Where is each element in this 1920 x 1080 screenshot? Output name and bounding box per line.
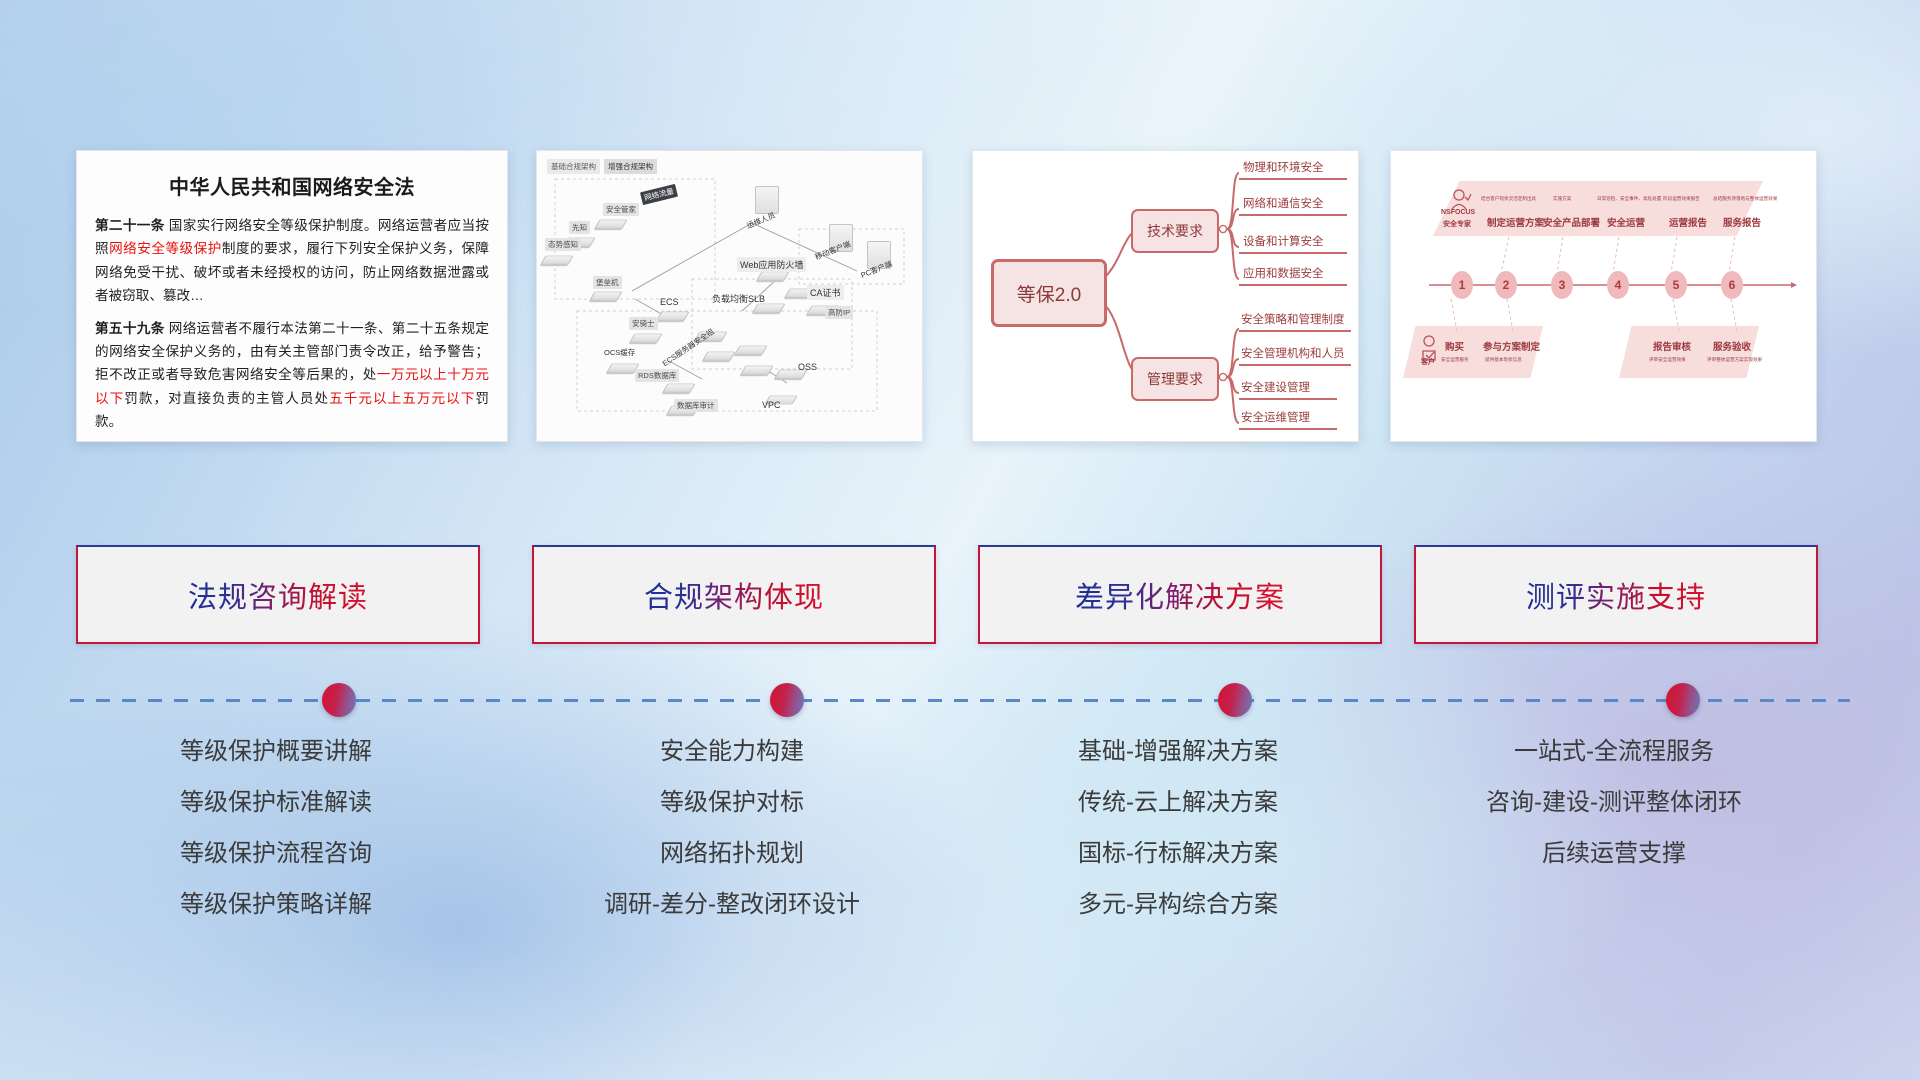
bottom-step-sub: 评审安全运营效果 <box>1649 357 1686 363</box>
bottom-step-sub: 提供基本现状信息 <box>1485 357 1522 363</box>
flow-step-2[interactable]: 2 <box>1495 271 1517 299</box>
flow-step-3[interactable]: 3 <box>1551 271 1573 299</box>
customer-label: 客户 <box>1421 357 1435 367</box>
top-step-title: 安全运营 <box>1607 215 1645 229</box>
list-item: 等级保护概要讲解 <box>76 740 476 764</box>
label-ecs: ECS <box>657 296 682 308</box>
top-step-title: 制定运营方案 <box>1487 215 1544 229</box>
list-item: 等级保护对标 <box>532 791 932 815</box>
timeline <box>70 683 1850 719</box>
mindmap-leaf-underline <box>1239 178 1347 180</box>
list-item: 后续运营支撑 <box>1414 842 1814 866</box>
node-ecs <box>659 309 687 323</box>
bottom-step-sub: 安全运营服务 <box>1441 357 1469 363</box>
node-anqishi <box>632 331 660 345</box>
law-article-label-21: 第二十一条 <box>95 218 165 233</box>
mindmap-leaf-underline <box>1239 252 1347 254</box>
timeline-dot-4[interactable] <box>1666 683 1700 717</box>
node-baoleiji <box>592 289 620 303</box>
list-item: 咨询-建设-测评整体闭环 <box>1414 791 1814 815</box>
detail-column-differentiated-solution: 基础-增强解决方案 传统-云上解决方案 国标-行标解决方案 多元-异构综合方案 <box>978 740 1378 944</box>
node-anquanguanjia <box>597 217 625 231</box>
list-item: 多元-异构综合方案 <box>978 893 1378 917</box>
title-label: 差异化解决方案 <box>1075 574 1285 616</box>
mindmap-leaf-underline <box>1239 428 1337 430</box>
mindmap-leaf-underline <box>1239 364 1351 366</box>
label-xianzhi: 先知 <box>569 221 590 234</box>
node-ecs-group-c <box>737 343 765 357</box>
law-paragraph-59: 第五十九条 网络运营者不履行本法第二十一条、第二十五条规定的网络安全保护义务的，… <box>95 317 489 434</box>
node-rds-database <box>665 381 693 395</box>
mindmap-root[interactable]: 等保2.0 <box>991 259 1107 327</box>
node-ecs-group-b <box>705 349 733 363</box>
detail-column-regulation-consulting: 等级保护概要讲解 等级保护标准解读 等级保护流程咨询 等级保护策略详解 <box>76 740 476 944</box>
flow-step-4[interactable]: 4 <box>1607 271 1629 299</box>
mindmap-branch-technical[interactable]: 技术要求 <box>1131 209 1219 253</box>
mindmap-leaf: 应用和数据安全 <box>1243 265 1324 281</box>
card-service-flow[interactable]: NSFOCUS 安全专家 客户 结合客户现状灵活定制出具 制定运营方案 实施方案… <box>1390 150 1817 442</box>
architecture-diagram: 基础合规架构 增强合规架构 <box>537 151 922 441</box>
title-box-differentiated-solution[interactable]: 差异化解决方案 <box>978 545 1382 644</box>
list-item: 调研-差分-整改闭环设计 <box>532 893 932 917</box>
brand-subtitle: 安全专家 <box>1443 219 1471 229</box>
list-item: 等级保护流程咨询 <box>76 842 476 866</box>
label-waf: Web应用防火墙 <box>737 257 806 272</box>
mindmap-leaf-underline <box>1239 214 1347 216</box>
card-dengbao-mindmap[interactable]: 等保2.0 技术要求 管理要求 物理和环境安全 网络和通信安全 设备和计算安全 … <box>972 150 1359 442</box>
flow-step-6[interactable]: 6 <box>1721 271 1743 299</box>
top-step-title: 运营报告 <box>1669 215 1707 229</box>
label-rds-database: RDS数据库 <box>635 369 679 382</box>
bottom-step-sub: 评审整体运营方案实现效果 <box>1707 357 1762 363</box>
law-run-text: 罚款，对直接负责的主管人员处 <box>124 391 329 406</box>
law-document: 中华人民共和国网络安全法 第二十一条 国家实行网络安全等级保护制度。网络运营者应… <box>77 151 507 441</box>
top-step-title: 服务报告 <box>1723 215 1761 229</box>
law-run-highlight: 网络安全等级保护 <box>109 241 222 256</box>
list-item: 安全能力构建 <box>532 740 932 764</box>
law-article-label-59: 第五十九条 <box>95 321 165 336</box>
title-box-regulation-consulting[interactable]: 法规咨询解读 <box>76 545 480 644</box>
mindmap-leaf: 安全运维管理 <box>1241 409 1310 425</box>
top-step-sub: 日常巡检、安全事件、高危处置 <box>1597 196 1661 202</box>
label-oss: OSS <box>795 361 820 373</box>
label-database-audit: 数据库审计 <box>674 399 718 412</box>
list-item: 一站式-全流程服务 <box>1414 740 1814 764</box>
top-step-sub: 阶段运营效果报告 <box>1663 196 1700 202</box>
list-item: 传统-云上解决方案 <box>978 791 1378 815</box>
title-box-assessment-support[interactable]: 测评实施支持 <box>1414 545 1818 644</box>
detail-column-assessment-support: 一站式-全流程服务 咨询-建设-测评整体闭环 后续运营支撑 <box>1414 740 1814 893</box>
card-cybersecurity-law[interactable]: 中华人民共和国网络安全法 第二十一条 国家实行网络安全等级保护制度。网络运营者应… <box>76 150 508 442</box>
detail-column-compliance-architecture: 安全能力构建 等级保护对标 网络拓扑规划 调研-差分-整改闭环设计 <box>532 740 932 944</box>
label-anti-ddos-ip: 高防IP <box>825 306 853 319</box>
label-security-butler: 安全管家 <box>603 203 639 216</box>
section-title-row: 法规咨询解读 合规架构体现 差异化解决方案 测评实施支持 <box>0 545 1920 650</box>
brand-name: NSFOCUS <box>1441 209 1475 216</box>
label-anqishi: 安骑士 <box>629 317 658 330</box>
title-label: 法规咨询解读 <box>188 574 368 616</box>
bottom-step-title: 参与方案制定 <box>1483 339 1540 353</box>
mindmap-leaf-underline <box>1239 330 1351 332</box>
mindmap-leaf: 安全管理机构和人员 <box>1241 345 1345 361</box>
bottom-step-title: 购买 <box>1445 339 1464 353</box>
flow-step-1[interactable]: 1 <box>1451 271 1473 299</box>
node-taishiganzhi <box>543 253 571 267</box>
card-cloud-architecture[interactable]: 基础合规架构 增强合规架构 <box>536 150 923 442</box>
list-item: 基础-增强解决方案 <box>978 740 1378 764</box>
law-run-highlight: 五千元以上五万元以下 <box>329 391 475 406</box>
mindmap-diagram: 等保2.0 技术要求 管理要求 物理和环境安全 网络和通信安全 设备和计算安全 … <box>973 151 1358 441</box>
label-vpc: VPC <box>759 399 784 411</box>
title-label: 测评实施支持 <box>1526 574 1706 616</box>
flow-step-5[interactable]: 5 <box>1665 271 1687 299</box>
label-situational-awareness: 态势感知 <box>545 238 581 251</box>
title-box-compliance-architecture[interactable]: 合规架构体现 <box>532 545 936 644</box>
mindmap-leaf: 安全建设管理 <box>1241 379 1310 395</box>
top-step-sub: 结合客户现状灵活定制出具 <box>1481 196 1536 202</box>
timeline-dot-2[interactable] <box>770 683 804 717</box>
mindmap-branch-management[interactable]: 管理要求 <box>1131 357 1219 401</box>
list-item: 等级保护标准解读 <box>76 791 476 815</box>
list-item: 等级保护策略详解 <box>76 893 476 917</box>
law-paragraph-21: 第二十一条 国家实行网络安全等级保护制度。网络运营者应当按照网络安全等级保护制度… <box>95 214 489 308</box>
timeline-dot-3[interactable] <box>1218 683 1252 717</box>
top-step-title: 安全产品部署 <box>1543 215 1600 229</box>
law-title: 中华人民共和国网络安全法 <box>95 171 489 200</box>
label-bastion-host: 堡垒机 <box>593 276 622 289</box>
bottom-step-title: 服务验收 <box>1713 339 1751 353</box>
node-ecs-group-d <box>743 363 771 377</box>
list-item: 网络拓扑规划 <box>532 842 932 866</box>
timeline-dot-1[interactable] <box>322 683 356 717</box>
mindmap-leaf-underline <box>1239 284 1347 286</box>
mindmap-leaf-underline <box>1239 398 1337 400</box>
title-label: 合规架构体现 <box>644 574 824 616</box>
list-item: 国标-行标解决方案 <box>978 842 1378 866</box>
image-card-row: 中华人民共和国网络安全法 第二十一条 国家实行网络安全等级保护制度。网络运营者应… <box>0 150 1920 445</box>
top-step-sub: 实施方案 <box>1553 196 1571 202</box>
label-ocs-cache: OCS缓存 <box>601 346 638 359</box>
service-flow-diagram: NSFOCUS 安全专家 客户 结合客户现状灵活定制出具 制定运营方案 实施方案… <box>1391 151 1816 441</box>
mindmap-leaf: 网络和通信安全 <box>1243 195 1324 211</box>
mindmap-leaf: 物理和环境安全 <box>1243 159 1324 175</box>
mindmap-leaf: 安全策略和管理制度 <box>1241 311 1345 327</box>
detail-columns: 等级保护概要讲解 等级保护标准解读 等级保护流程咨询 等级保护策略详解 安全能力… <box>0 740 1920 960</box>
top-step-sub: 总结服务项落地与整体运营效果 <box>1713 196 1777 202</box>
bottom-step-title: 报告审核 <box>1653 339 1691 353</box>
mindmap-leaf: 设备和计算安全 <box>1243 233 1324 249</box>
label-slb: 负载均衡SLB <box>709 291 768 306</box>
label-ca-certificate: CA证书 <box>807 285 844 300</box>
node-ocs-cache <box>609 361 637 375</box>
